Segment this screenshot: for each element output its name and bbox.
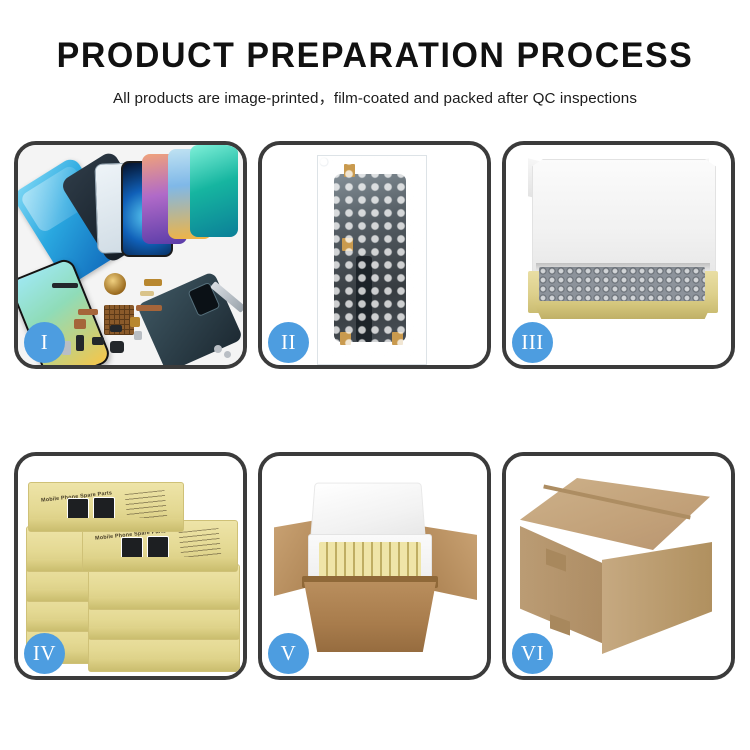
product-preparation-infographic: PRODUCT PREPARATION PROCESS All products… [0, 0, 750, 750]
spare-part-chip [92, 337, 104, 345]
carton-inner-shadow [536, 263, 710, 271]
bubble-wrapped-contents [539, 267, 705, 301]
spare-part-chip [224, 351, 231, 358]
teal-gradient-phone [190, 145, 238, 237]
carton-body [304, 582, 436, 652]
process-step-4: Mobile Phone Spare Parts Mobile Phone Sp… [14, 452, 247, 680]
spare-part-chip [140, 291, 154, 296]
step-badge-4: IV [24, 633, 65, 674]
spare-part-chip [52, 283, 78, 288]
spare-part-chip [110, 325, 122, 332]
bubble-texture [318, 156, 426, 364]
label-spec-lines [178, 528, 221, 560]
spare-part-chip [76, 335, 84, 351]
process-step-5: V [258, 452, 491, 680]
spare-part-chip [110, 341, 124, 353]
page-title: PRODUCT PREPARATION PROCESS [11, 38, 739, 73]
speaker-coil-part [104, 273, 126, 295]
spare-part-chip [74, 319, 86, 329]
process-step-3: III [502, 141, 735, 369]
spare-part-chip [130, 317, 140, 327]
step-badge-3: III [512, 322, 553, 363]
process-step-2: II [258, 141, 491, 369]
carton-right-face [602, 542, 712, 654]
step-badge-1: I [24, 322, 65, 363]
step-badge-2: II [268, 322, 309, 363]
spare-part-chip [134, 331, 142, 340]
step-badge-6: VI [512, 633, 553, 674]
spare-part-chip [144, 279, 162, 286]
spare-part-chip [136, 305, 162, 311]
header: PRODUCT PREPARATION PROCESS All products… [0, 0, 750, 108]
process-step-1: I [14, 141, 247, 369]
process-step-grid: I II [14, 141, 736, 680]
yellow-inner-tray-side [528, 303, 718, 319]
spare-part-chip [214, 345, 222, 353]
step-badge-5: V [268, 633, 309, 674]
retail-box-top-back: Mobile Phone Spare Parts [28, 482, 184, 532]
bubble-wrap-bag [317, 155, 427, 365]
spare-part-chip [78, 309, 98, 315]
page-subtitle: All products are image-printed，film-coat… [0, 86, 750, 108]
process-step-6: VI [502, 452, 735, 680]
retail-box-label: Mobile Phone Spare Parts [41, 488, 167, 510]
